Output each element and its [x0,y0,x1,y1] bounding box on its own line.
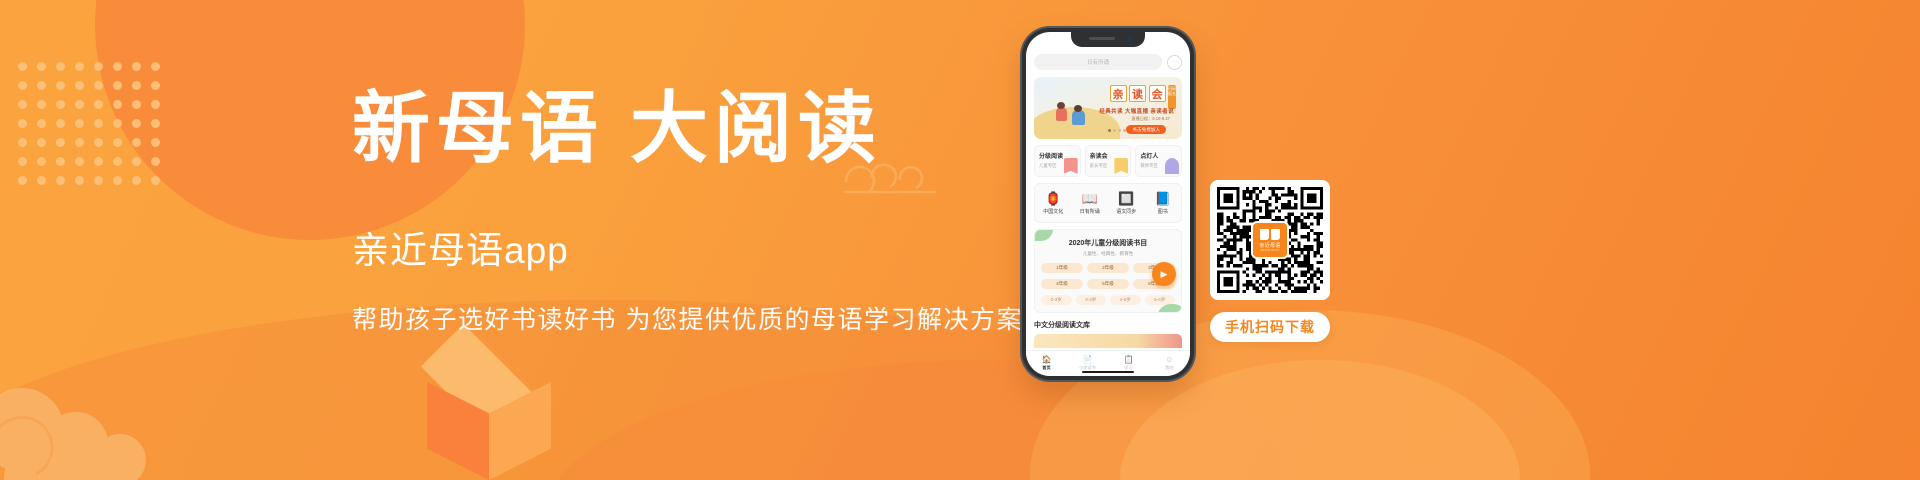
hero-flag-label: 扫码报名 [1168,85,1176,109]
hero-title-char: 读 [1129,85,1146,102]
cube-decoration [405,330,575,480]
qr-block: 亲近母语 QINJIN MUYU 手机扫码下载 [1210,180,1330,342]
tab-首页[interactable]: 🏠首页 [1026,356,1067,371]
glow-decoration-inner [1120,360,1520,480]
booklist-card[interactable]: 2020年儿童分级阅读书目 儿童性、经典性、教育性 1年级2年级3年级 4年级5… [1034,229,1182,313]
qr-card: 亲近母语 QINJIN MUYU [1210,180,1330,300]
hero-title: 亲 读 会 扫码报名 [1110,85,1177,109]
search-placeholder: 日有所诵 [1087,58,1109,66]
message-icon[interactable]: ··· [1167,55,1182,70]
search-input[interactable]: 日有所诵 [1034,54,1162,70]
hero-cta-button[interactable]: 点击免费加入 [1126,125,1166,134]
hero-banner-card[interactable]: 亲 读 会 扫码报名 经典共读 大咖直播 亲读者说 直播日程：9.16-9.27… [1034,77,1182,139]
tab-icon: 📋 [1108,356,1149,364]
download-button[interactable]: 手机扫码下载 [1210,312,1330,342]
phone-mockup: 日有所诵 ··· 亲 读 会 扫码报名 经典共读 大咖直播 亲读者说 [1022,28,1194,380]
hero-title-char: 会 [1149,85,1166,102]
quick-entry-icon: 📖 [1072,192,1109,205]
quick-entry-list: 🏮中国文化📖日有所诵🔲语文同步📘图书 [1034,183,1182,223]
category-card[interactable]: 点灯人教师专区 [1135,145,1182,177]
page-title: 新母语大阅读 [352,86,1052,172]
library-strip[interactable] [1034,334,1182,348]
phone-notch [1071,32,1145,47]
headline-part-2: 大阅读 [630,85,882,172]
tab-学习[interactable]: 📋学习 [1108,356,1149,371]
app-name-subtitle: 亲近母语app [352,220,1052,274]
quick-entry-label: 日有所诵 [1072,208,1109,215]
quick-entry-label: 图书 [1145,208,1182,215]
dot-grid-decoration [18,62,170,222]
category-card-shape [1114,158,1128,174]
category-card-list: 分级阅读儿童专区亲读会家长专区点灯人教师专区 [1034,145,1182,177]
headline-part-1: 新母语 [352,85,604,172]
tab-我的[interactable]: ☺我的 [1149,356,1190,371]
tab-icon: 📄 [1067,356,1108,364]
tab-icon: 🏠 [1026,356,1067,364]
category-card-shape [1064,158,1078,174]
age-chip[interactable]: 4-5岁 [1110,295,1141,305]
quick-entry-icon: 🔲 [1108,192,1145,205]
age-chip[interactable]: 3-4岁 [1076,295,1107,305]
tab-label: 我的 [1149,365,1190,371]
grade-chip[interactable]: 1年级 [1041,263,1083,273]
quick-entry-label: 语文同步 [1108,208,1145,215]
booklist-title: 2020年儿童分级阅读书目 [1041,238,1175,248]
category-card[interactable]: 亲读会家长专区 [1085,145,1132,177]
play-button[interactable]: ▶ [1152,262,1176,286]
booklist-subtitle: 儿童性、经典性、教育性 [1041,251,1175,257]
search-row: 日有所诵 ··· [1034,54,1182,70]
age-chip-row: 0-3岁3-4岁4-5岁5-6岁 [1041,295,1175,305]
grade-chip[interactable]: 2年级 [1087,263,1129,273]
home-indicator [1082,371,1134,374]
phone-screen: 日有所诵 ··· 亲 读 会 扫码报名 经典共读 大咖直播 亲读者说 [1026,32,1190,376]
brand-logo: 亲近母语 QINJIN MUYU [1253,223,1287,257]
hero-title-char: 亲 [1110,85,1127,102]
quick-entry-icon: 🏮 [1035,192,1072,205]
category-card[interactable]: 分级阅读儿童专区 [1034,145,1081,177]
hero-dates: 直播日程：9.16-9.27 [1131,116,1170,122]
brand-logo-en: QINJIN MUYU [1260,249,1279,252]
tab-label: 首页 [1026,365,1067,371]
age-chip[interactable]: 0-3岁 [1041,295,1072,305]
quick-entry[interactable]: 🏮中国文化 [1035,192,1072,215]
tab-icon: ☺ [1149,356,1190,364]
hill-decoration-secondary [540,360,1440,480]
quick-entry[interactable]: 📖日有所诵 [1072,192,1109,215]
promo-banner: 新母语大阅读 亲近母语app 帮助孩子选好书读好书 为您提供优质的母语学习解决方… [0,0,1920,480]
carousel-dots[interactable] [1108,129,1126,132]
tab-小步读书[interactable]: 📄小步读书 [1067,356,1108,371]
tagline: 帮助孩子选好书读好书 为您提供优质的母语学习解决方案 [352,300,1052,336]
brand-logo-cn: 亲近母语 [1259,242,1280,249]
grade-chip[interactable]: 5年级 [1087,279,1129,289]
quick-entry[interactable]: 📘图书 [1145,192,1182,215]
copy-block: 新母语大阅读 亲近母语app 帮助孩子选好书读好书 为您提供优质的母语学习解决方… [352,86,1052,336]
library-section-title: 中文分级阅读文库 [1034,320,1182,330]
quick-entry[interactable]: 🔲语文同步 [1108,192,1145,215]
hero-subtitle: 经典共读 大咖直播 亲读者说 [1099,107,1174,115]
quick-entry-label: 中国文化 [1035,208,1072,215]
grade-chip[interactable]: 4年级 [1041,279,1083,289]
quick-entry-icon: 📘 [1145,192,1182,205]
cloud-decoration-bottom-left [0,378,195,480]
category-card-shape [1165,158,1179,174]
